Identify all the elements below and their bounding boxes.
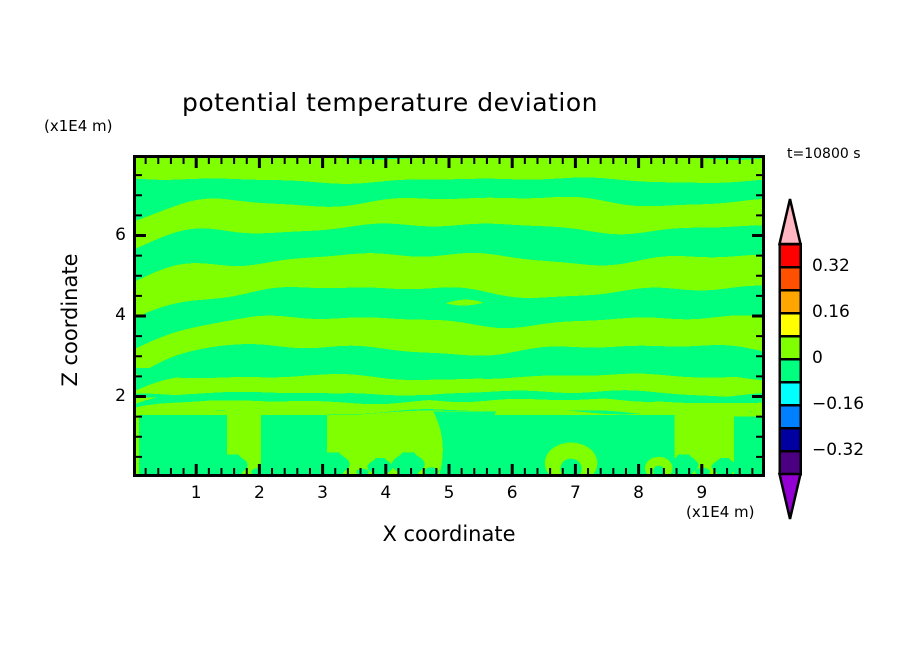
colorbar-band — [780, 428, 801, 451]
x-tick-label: 7 — [560, 483, 590, 503]
colorbar-band — [780, 451, 801, 474]
x-axis-title: X coordinate — [133, 522, 765, 546]
y-axis-unit-label: (x1E4 m) — [44, 117, 113, 135]
x-tick-label: 4 — [371, 483, 401, 503]
colorbar-band — [780, 244, 801, 267]
x-tick-label: 3 — [308, 483, 338, 503]
colorbar-tick-label: 0 — [812, 348, 823, 368]
colorbar-band — [780, 382, 801, 405]
colorbar-cap-bottom — [780, 474, 801, 519]
x-tick-label: 9 — [687, 483, 717, 503]
y-axis-title: Z coordinate — [58, 220, 82, 420]
colorbar-band — [780, 267, 801, 290]
x-tick-label: 1 — [181, 483, 211, 503]
colorbar-cap-top — [780, 199, 801, 244]
colorbar-band — [780, 405, 801, 428]
contour-plot-area — [133, 155, 765, 477]
colorbar-band — [780, 359, 801, 382]
x-axis-unit-label: (x1E4 m) — [686, 503, 755, 521]
x-tick-label: 8 — [624, 483, 654, 503]
y-tick-label: 6 — [96, 225, 126, 245]
x-tick-label: 5 — [434, 483, 464, 503]
x-tick-label: 2 — [244, 483, 274, 503]
y-tick-label: 4 — [96, 305, 126, 325]
colorbar-swatches — [778, 198, 802, 520]
colorbar-band — [780, 336, 801, 359]
chart-title: potential temperature deviation — [0, 88, 780, 117]
colorbar-tick-label: −0.32 — [812, 440, 864, 460]
x-tick-label: 6 — [497, 483, 527, 503]
colorbar-tick-label: 0.16 — [812, 302, 850, 322]
colorbar-band — [780, 313, 801, 336]
timestamp-label: t=10800 s — [787, 146, 861, 162]
figure-root: potential temperature deviation (x1E4 m)… — [0, 0, 904, 654]
y-tick-label: 2 — [96, 386, 126, 406]
colorbar-band — [780, 290, 801, 313]
contour-field — [136, 158, 762, 474]
colorbar-tick-label: 0.32 — [812, 256, 850, 276]
colorbar — [778, 198, 802, 520]
colorbar-tick-label: −0.16 — [812, 394, 864, 414]
